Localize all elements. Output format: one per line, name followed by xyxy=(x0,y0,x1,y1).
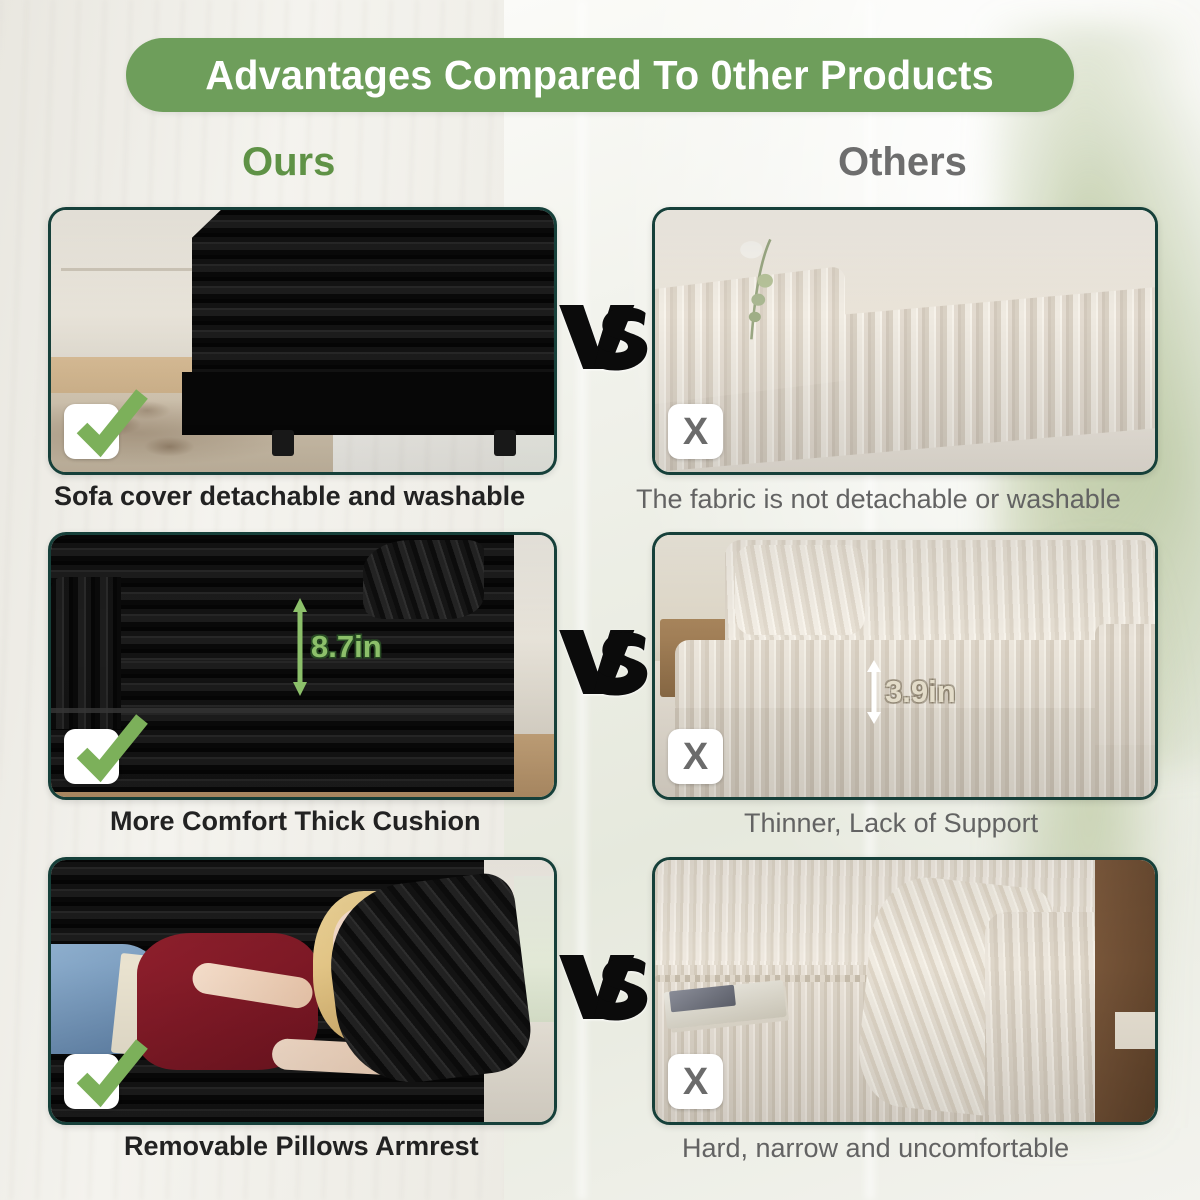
vs-icon xyxy=(556,625,652,699)
photo-sofa-leg-right xyxy=(494,430,516,456)
photo-seat-seam xyxy=(51,708,514,713)
ours-check-badge-cushion xyxy=(64,729,119,784)
photo-chair-seat xyxy=(1115,1012,1155,1049)
others-x-badge-cushion: X xyxy=(668,729,723,784)
photo-sofa-arm xyxy=(1095,624,1155,745)
page-title: Advantages Compared To 0ther Products xyxy=(206,52,995,99)
photo-sofa-leg-left xyxy=(272,430,294,456)
ours-caption-detachable: Sofa cover detachable and washable xyxy=(54,481,525,512)
vs-icon xyxy=(556,300,652,374)
orchid-icon xyxy=(685,236,835,357)
vs-badge-armrest xyxy=(556,950,652,1024)
photo-wood-chair xyxy=(1095,860,1155,1122)
photo-narrow-armrest xyxy=(985,912,1105,1122)
ours-check-badge-armrest xyxy=(64,1054,119,1109)
ours-caption-cushion: More Comfort Thick Cushion xyxy=(110,806,481,837)
others-caption-detachable: The fabric is not detachable or washable xyxy=(636,484,1121,515)
photo-sofa-arm xyxy=(51,577,121,729)
column-heading-ours: Ours xyxy=(242,140,335,185)
others-dimension-label: 3.9in xyxy=(885,674,956,710)
others-x-badge-detachable: X xyxy=(668,404,723,459)
column-heading-others: Others xyxy=(838,140,967,185)
ours-image-panel-armrest[interactable] xyxy=(48,857,557,1125)
ours-photo-detachable xyxy=(51,210,554,472)
others-caption-armrest: Hard, narrow and uncomfortable xyxy=(682,1133,1069,1164)
ours-dimension-label: 8.7in xyxy=(311,629,382,665)
vs-icon xyxy=(556,950,652,1024)
others-photo-detachable xyxy=(655,210,1155,472)
others-photo-armrest xyxy=(655,860,1155,1122)
ours-check-badge-detachable xyxy=(64,404,119,459)
vs-badge-detachable xyxy=(556,300,652,374)
others-caption-cushion: Thinner, Lack of Support xyxy=(744,808,1038,839)
photo-sofa-skirt xyxy=(182,372,554,435)
x-icon: X xyxy=(683,1063,708,1101)
others-image-panel-detachable[interactable]: X xyxy=(652,207,1158,475)
others-x-badge-armrest: X xyxy=(668,1054,723,1109)
double-arrow-icon xyxy=(866,660,882,724)
ours-photo-armrest xyxy=(51,860,554,1122)
ours-image-panel-detachable[interactable] xyxy=(48,207,557,475)
photo-back-pillow xyxy=(735,545,865,634)
x-icon: X xyxy=(683,738,708,776)
others-image-panel-armrest[interactable]: X xyxy=(652,857,1158,1125)
infographic-root: Advantages Compared To 0ther Products Ou… xyxy=(0,0,1200,1200)
vs-badge-cushion xyxy=(556,625,652,699)
ours-caption-armrest: Removable Pillows Armrest xyxy=(124,1131,479,1162)
double-arrow-icon xyxy=(292,598,308,696)
ours-dimension-annotation: 8.7in xyxy=(292,598,382,696)
title-banner: Advantages Compared To 0ther Products xyxy=(126,38,1074,112)
x-icon: X xyxy=(683,413,708,451)
others-dimension-annotation: 3.9in xyxy=(866,660,956,724)
